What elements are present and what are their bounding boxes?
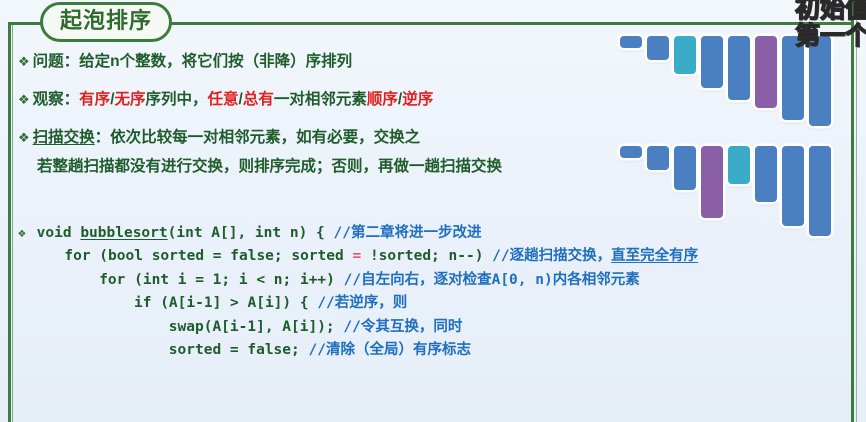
code-line: swap(A[i-1], A[i]); //令其互换，同时 (18, 316, 866, 339)
bullet-text-segment: 逆序 (402, 91, 433, 108)
bullet-text-segment: 顺序 (367, 91, 398, 108)
chart-bar (755, 36, 777, 108)
code-line: sorted = false; //清除（全局）有序标志 (18, 339, 866, 362)
bullet-line: ❖问题：给定n个整数，将它们按（非降）序排列 (18, 52, 658, 73)
bullet-line: 若整趟扫描都没有进行交换，则排序完成；否则，再做一趟扫描交换 (18, 157, 658, 178)
code-token: !sorted; n--) (361, 248, 492, 264)
bullet-line: ❖观察：有序/无序序列中，任意/总有一对相邻元素顺序/逆序 (18, 90, 658, 111)
bullet-text-segment: 观察： (33, 91, 80, 108)
code-token: //若逆序，则 (317, 295, 407, 311)
bullet-text-segment: 无序 (115, 91, 146, 108)
bullet-diamond-icon: ❖ (18, 92, 30, 107)
bullet-diamond-icon: ❖ (18, 54, 30, 69)
chart-bar (647, 146, 669, 170)
code-line: for (bool sorted = false; sorted = !sort… (18, 245, 866, 268)
bullet-text-segment: 若整趟扫描都没有进行交换，则排序完成；否则，再做一趟扫描交换 (37, 158, 502, 175)
bullet-text-segment: 总有 (243, 91, 274, 108)
code-token: void (37, 225, 81, 241)
bullet-line: ❖扫描交换：依次比较每一对相邻元素，如有必要，交换之 (18, 128, 658, 149)
bar-chart-after-first-pass (620, 146, 836, 236)
chart-bar (755, 146, 777, 202)
bullet-diamond-icon: ❖ (18, 130, 30, 145)
code-token: //清除（全局）有序标志 (308, 342, 470, 358)
code-token: sorted = false; (169, 342, 309, 358)
code-token: //逐趟扫描交换， (492, 248, 611, 264)
bullet-text-segment: 问题：给定n个整数，将它们按（非降）序排列 (33, 53, 352, 70)
chart-bar (809, 146, 831, 236)
code-token: for (bool sorted = false; sorted (64, 248, 352, 264)
overlay-caption-line1: 初始值 (795, 0, 866, 23)
spacer (18, 111, 658, 128)
chart-bar (701, 146, 723, 218)
bullet-diamond-icon: ❖ (18, 226, 34, 241)
chart-bar (647, 36, 669, 60)
chart-bar (701, 36, 723, 88)
spacer (18, 73, 658, 90)
bullet-text-segment: 序列中， (146, 91, 208, 108)
code-token: bubblesort (80, 225, 167, 241)
code-token: if (A[i-1] > A[i]) { (134, 295, 317, 311)
bullet-text-segment: 任意 (208, 91, 239, 108)
overlay-caption: 初始值 第一个 (795, 0, 866, 50)
slide-title: 起泡排序 (40, 2, 172, 42)
code-token: //自左向右，逐对检查A[0, n)内各相邻元素 (344, 272, 640, 288)
code-token: = (352, 248, 361, 264)
bullet-text-segment: 扫描交换 (33, 129, 95, 146)
chart-bar (674, 36, 696, 74)
code-line: for (int i = 1; i < n; i++) //自左向右，逐对检查A… (18, 269, 866, 292)
code-token: 直至完全有序 (611, 248, 698, 264)
bullet-list: ❖问题：给定n个整数，将它们按（非降）序排列❖观察：有序/无序序列中，任意/总有… (18, 52, 658, 178)
overlay-caption-line2: 第一个 (795, 23, 866, 50)
code-line: if (A[i-1] > A[i]) { //若逆序，则 (18, 292, 866, 315)
code-token: //第二章将进一步改进 (334, 225, 482, 241)
code-token: for (int i = 1; i < n; i++) (99, 272, 343, 288)
slide-canvas: 起泡排序 ❖问题：给定n个整数，将它们按（非降）序排列❖观察：有序/无序序列中，… (0, 0, 866, 422)
spacer (18, 149, 658, 157)
chart-bar (620, 146, 642, 158)
chart-bar (782, 146, 804, 226)
bullet-text-segment: 有序 (79, 91, 110, 108)
code-block: ❖ void bubblesort(int A[], int n) { //第二… (18, 222, 866, 363)
chart-bar (620, 36, 642, 48)
code-token: swap(A[i-1], A[i]); (169, 319, 344, 335)
frame-left-border (8, 22, 11, 422)
frame-left-border-inner (12, 22, 13, 422)
chart-bar (728, 36, 750, 100)
frame-top-right-rule (146, 22, 852, 25)
bullet-text-segment: ：依次比较每一对相邻元素，如有必要，交换之 (95, 129, 421, 146)
bullet-text-segment: 一对相邻元素 (274, 91, 367, 108)
chart-bar (674, 146, 696, 190)
code-token: (int A[], int n) { (168, 225, 334, 241)
code-token: //令其互换，同时 (343, 319, 462, 335)
chart-bar (728, 146, 750, 184)
